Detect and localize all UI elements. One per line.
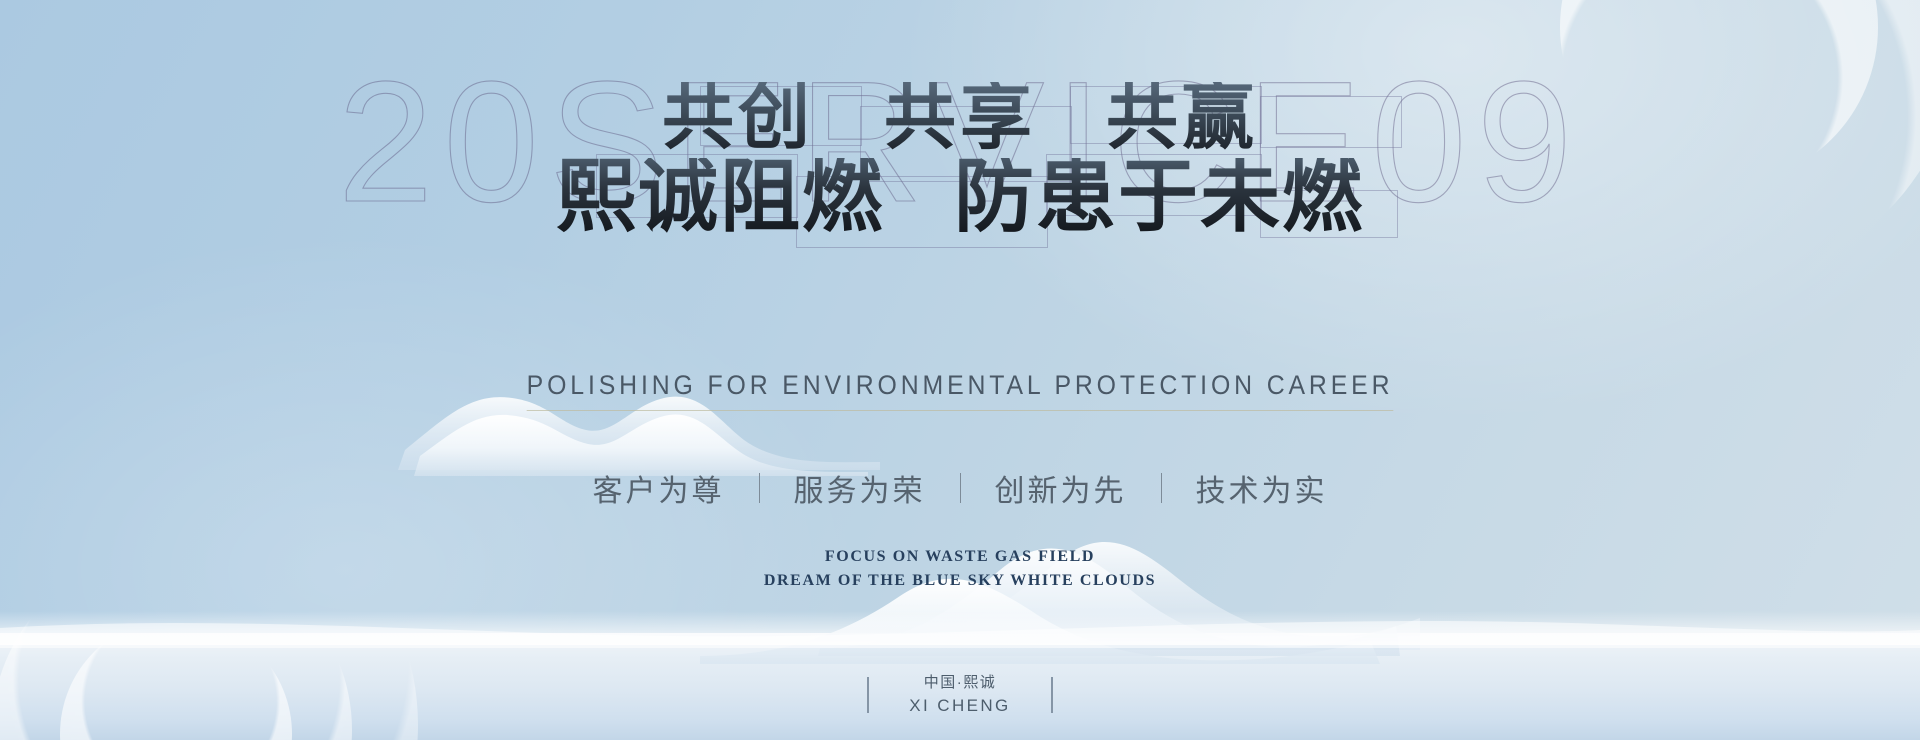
english-tagline: POLISHING FOR ENVIRONMENTAL PROTECTION C… (527, 370, 1394, 411)
headline-line-1: 共创 共享 共赢 (0, 82, 1920, 154)
tagline-block: POLISHING FOR ENVIRONMENTAL PROTECTION C… (0, 370, 1920, 411)
value-separator-2 (960, 473, 961, 503)
value-separator-1 (759, 473, 760, 503)
headline-block: 共创 共享 共赢 熙诚阻燃 防患于未燃 (0, 82, 1920, 238)
promo-banner: 20SERVICE09 (0, 0, 1920, 740)
value-item-3: 创新为先 (995, 466, 1127, 510)
value-item-1: 客户为尊 (593, 466, 725, 510)
subtitle-block: FOCUS ON WASTE GAS FIELD DREAM OF THE BL… (0, 545, 1920, 593)
signature-bar-left (867, 677, 869, 713)
signature-english: XI CHENG (909, 694, 1010, 718)
signature-text: 中国·熙诚 XI CHENG (909, 672, 1010, 718)
value-item-2: 服务为荣 (794, 466, 926, 510)
headline-word-4: 熙诚阻燃 (556, 154, 884, 242)
subtitle-line-2: DREAM OF THE BLUE SKY WHITE CLOUDS (0, 569, 1920, 593)
subtitle-line-1: FOCUS ON WASTE GAS FIELD (0, 545, 1920, 569)
headline-word-3: 共赢 (1106, 78, 1258, 158)
values-row: 客户为尊 服务为荣 创新为先 技术为实 (0, 466, 1920, 510)
brand-signature: 中国·熙诚 XI CHENG (0, 672, 1920, 718)
headline-line-2: 熙诚阻燃 防患于未燃 (0, 158, 1920, 238)
signature-chinese: 中国·熙诚 (909, 672, 1010, 694)
signature-bar-right (1051, 677, 1053, 713)
headline-word-5: 防患于未燃 (954, 154, 1364, 242)
value-separator-3 (1161, 473, 1162, 503)
headline-word-2: 共享 (884, 78, 1036, 158)
value-item-4: 技术为实 (1196, 466, 1328, 510)
headline-word-1: 共创 (662, 78, 814, 158)
